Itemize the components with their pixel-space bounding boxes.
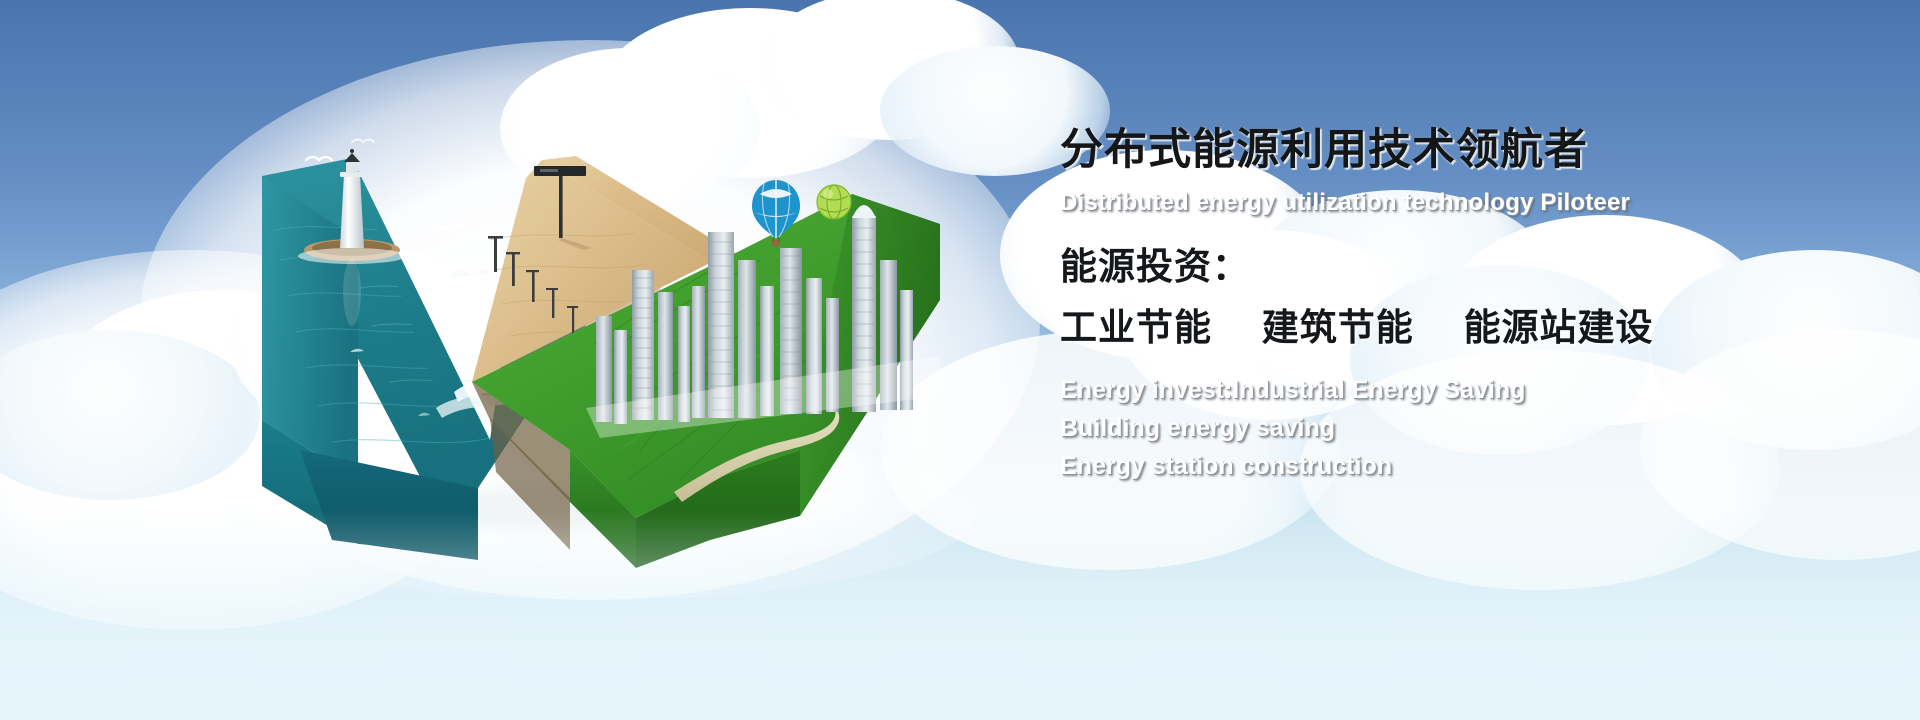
services-english-list: Energy invest:Industrial Energy Saving B… [1060,371,1890,485]
w-letter-landscape-sculpture [240,120,940,520]
service-chinese-item: 能源站建设 [1464,306,1654,349]
service-english-item: Building energy saving [1060,409,1890,447]
seagull-icon [428,224,465,232]
lighthouse-tower [340,174,364,248]
services-chinese-list: 工业节能 建筑节能 能源站建设 [1060,308,1890,349]
seagull-icon [306,157,332,160]
building [632,270,654,420]
seagull-icon [352,140,374,143]
hero-banner: 分布式能源利用技术领航者 Distributed energy utilizat… [0,0,1920,720]
service-english-item: Energy invest:Industrial Energy Saving [1060,371,1890,409]
banner-copy: 分布式能源利用技术领航者 Distributed energy utilizat… [1060,128,1890,485]
seagull-icon [446,270,491,278]
headline-chinese: 分布式能源利用技术领航者 [1060,128,1890,173]
lighthouse-finial [350,149,354,153]
subheadline-english: Distributed energy utilization technolog… [1060,189,1890,217]
lighthouse-reflection [343,258,361,326]
service-chinese-item: 建筑节能 [1262,306,1414,349]
lighthouse-lamp [346,162,358,173]
cloud-puff [760,0,1020,140]
bottom-haze [0,510,1920,720]
service-english-item: Energy station construction [1060,447,1890,485]
lighthouse-roof [344,153,360,162]
cloud-puff [0,330,260,500]
service-chinese-item: 工业节能 [1060,306,1212,349]
section-label-chinese: 能源投资： [1060,247,1890,288]
green-globe-icon [817,185,851,219]
telegraph-pole [488,236,503,272]
